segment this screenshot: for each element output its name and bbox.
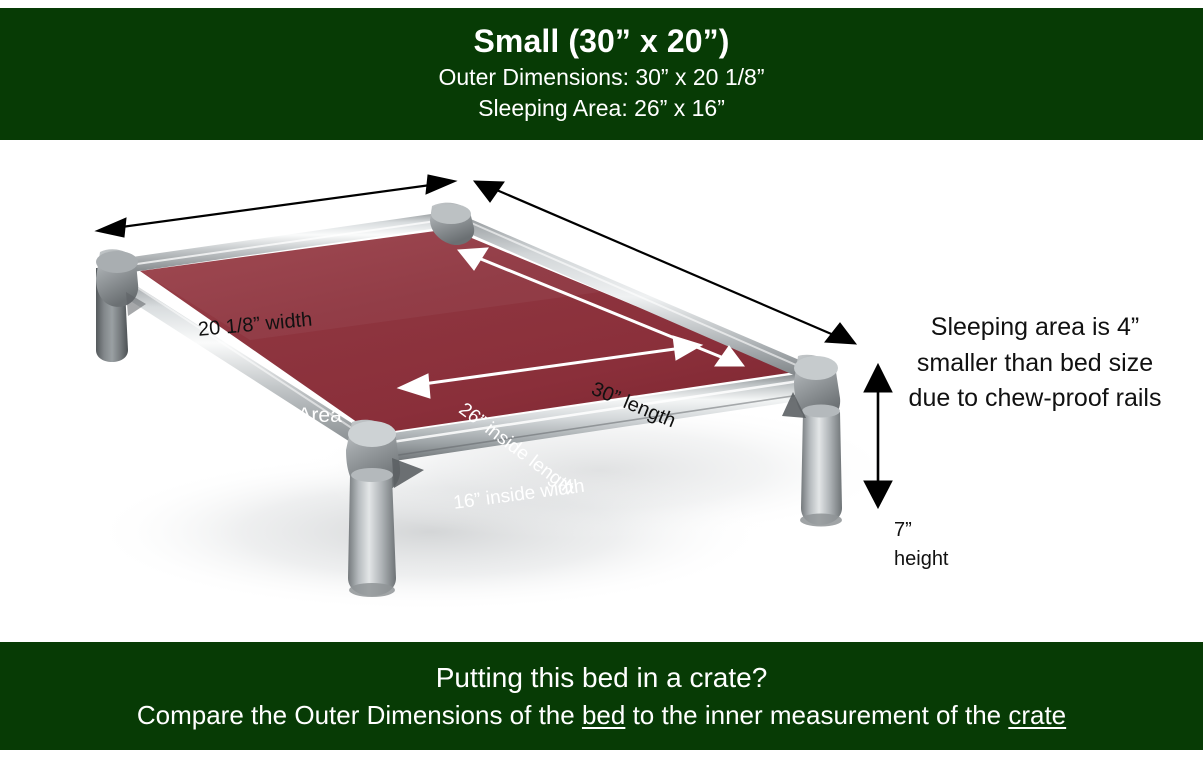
- footer-question: Putting this bed in a crate?: [436, 660, 768, 695]
- label-sleeping-area: Sleeping Area 26” x 16”: [211, 402, 342, 457]
- footer-compare-line: Compare the Outer Dimensions of the bed …: [137, 699, 1066, 732]
- header-sleeping-area: Sleeping Area: 26” x 16”: [478, 93, 725, 124]
- footer-word-bed: bed: [582, 700, 625, 730]
- header-banner: Small (30” x 20”) Outer Dimensions: 30” …: [0, 8, 1203, 140]
- header-outer-dimensions: Outer Dimensions: 30” x 20 1/8”: [439, 62, 765, 93]
- footer-banner: Putting this bed in a crate? Compare the…: [0, 642, 1203, 750]
- footer-word-crate: crate: [1008, 700, 1066, 730]
- note-chew-proof-rails: Sleeping area is 4” smaller than bed siz…: [876, 310, 1194, 417]
- bed-illustration: 20 1/8” width 30” length 26” inside leng…: [0, 140, 1203, 642]
- label-height-value: 7”: [894, 519, 912, 541]
- label-height-word: height: [894, 545, 949, 574]
- page-root: Small (30” x 20”) Outer Dimensions: 30” …: [0, 0, 1203, 758]
- footer-compare-prefix: Compare the Outer Dimensions of the: [137, 700, 582, 730]
- label-height: 7” height: [894, 516, 949, 574]
- bed-leg-front-left: [348, 468, 396, 597]
- label-sleeping-area-line2: 26” x 16”: [211, 429, 342, 456]
- note-line-3: due to chew-proof rails: [876, 381, 1194, 417]
- note-line-2: smaller than bed size: [876, 346, 1194, 382]
- note-line-1: Sleeping area is 4”: [876, 310, 1194, 346]
- page-title: Small (30” x 20”): [473, 23, 729, 60]
- footer-compare-middle: to the inner measurement of the: [625, 700, 1008, 730]
- bed-leg-front-right: [800, 405, 842, 527]
- label-sleeping-area-line1: Sleeping Area: [211, 404, 342, 427]
